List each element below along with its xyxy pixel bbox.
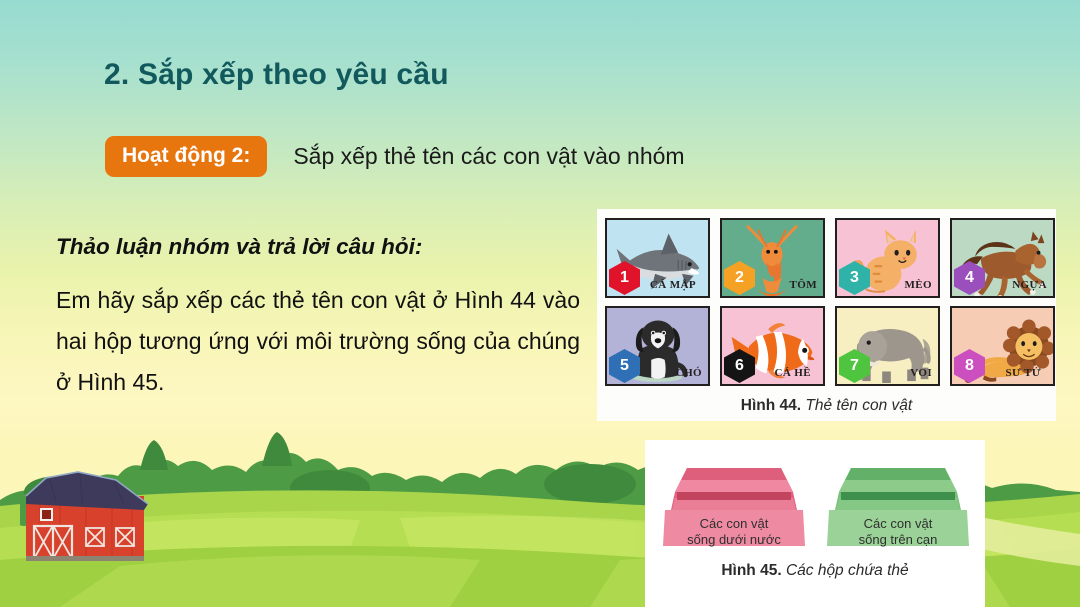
barn-icon	[20, 470, 154, 562]
card-animal-name: MÈO	[905, 279, 932, 291]
water-box-label: Các con vật sống dưới nước	[663, 516, 805, 548]
land-box-label: Các con vật sống trên cạn	[827, 516, 969, 548]
figure-44-panel: 1CÁ MẬP 2TÔM 3MÈO	[597, 209, 1056, 421]
card-animal-name: NGỰA	[1012, 279, 1047, 291]
animal-card-2[interactable]: 2TÔM	[720, 218, 825, 298]
figure-45-caption-label: Hình 45.	[721, 562, 781, 579]
figure-45-caption: Hình 45. Các hộp chứa thẻ	[645, 562, 985, 580]
activity-badge[interactable]: Hoạt động 2:	[105, 136, 267, 177]
animal-card-grid: 1CÁ MẬP 2TÔM 3MÈO	[605, 218, 1055, 386]
animal-card-7[interactable]: 7VOI	[835, 306, 940, 386]
discussion-prompt: Thảo luận nhóm và trả lời câu hỏi:	[56, 234, 579, 260]
card-animal-name: CÁ MẬP	[650, 279, 696, 291]
figure-44-caption: Hình 44. Thẻ tên con vật	[597, 397, 1056, 415]
slide-canvas: 2. Sắp xếp theo yêu cầu Hoạt động 2: Sắp…	[0, 0, 1080, 607]
animal-card-4[interactable]: 4NGỰA	[950, 218, 1055, 298]
card-animal-name: CÁ HỀ	[774, 367, 811, 379]
activity-row: Hoạt động 2: Sắp xếp thẻ tên các con vật…	[105, 136, 685, 177]
animal-card-8[interactable]: 8SƯ TỬ	[950, 306, 1055, 386]
card-animal-name: VOI	[910, 367, 932, 379]
animal-card-6[interactable]: 6CÁ HỀ	[720, 306, 825, 386]
figure-45-panel: Các con vật sống dưới nước Các con vật s…	[645, 440, 985, 607]
animal-card-1[interactable]: 1CÁ MẬP	[605, 218, 710, 298]
animal-card-3[interactable]: 3MÈO	[835, 218, 940, 298]
card-animal-name: CHÓ	[676, 367, 702, 379]
figure-44-caption-text: Thẻ tên con vật	[801, 397, 912, 414]
figure-44-caption-label: Hình 44.	[741, 397, 801, 414]
card-animal-name: SƯ TỬ	[1005, 367, 1041, 379]
question-paragraph: Em hãy sắp xếp các thẻ tên con vật ở Hìn…	[56, 280, 580, 403]
page-title: 2. Sắp xếp theo yêu cầu	[104, 58, 449, 92]
card-animal-name: TÔM	[790, 279, 817, 291]
figure-45-caption-text: Các hộp chứa thẻ	[782, 562, 909, 579]
activity-instruction: Sắp xếp thẻ tên các con vật vào nhóm	[293, 145, 684, 168]
animal-card-5[interactable]: 5CHÓ	[605, 306, 710, 386]
